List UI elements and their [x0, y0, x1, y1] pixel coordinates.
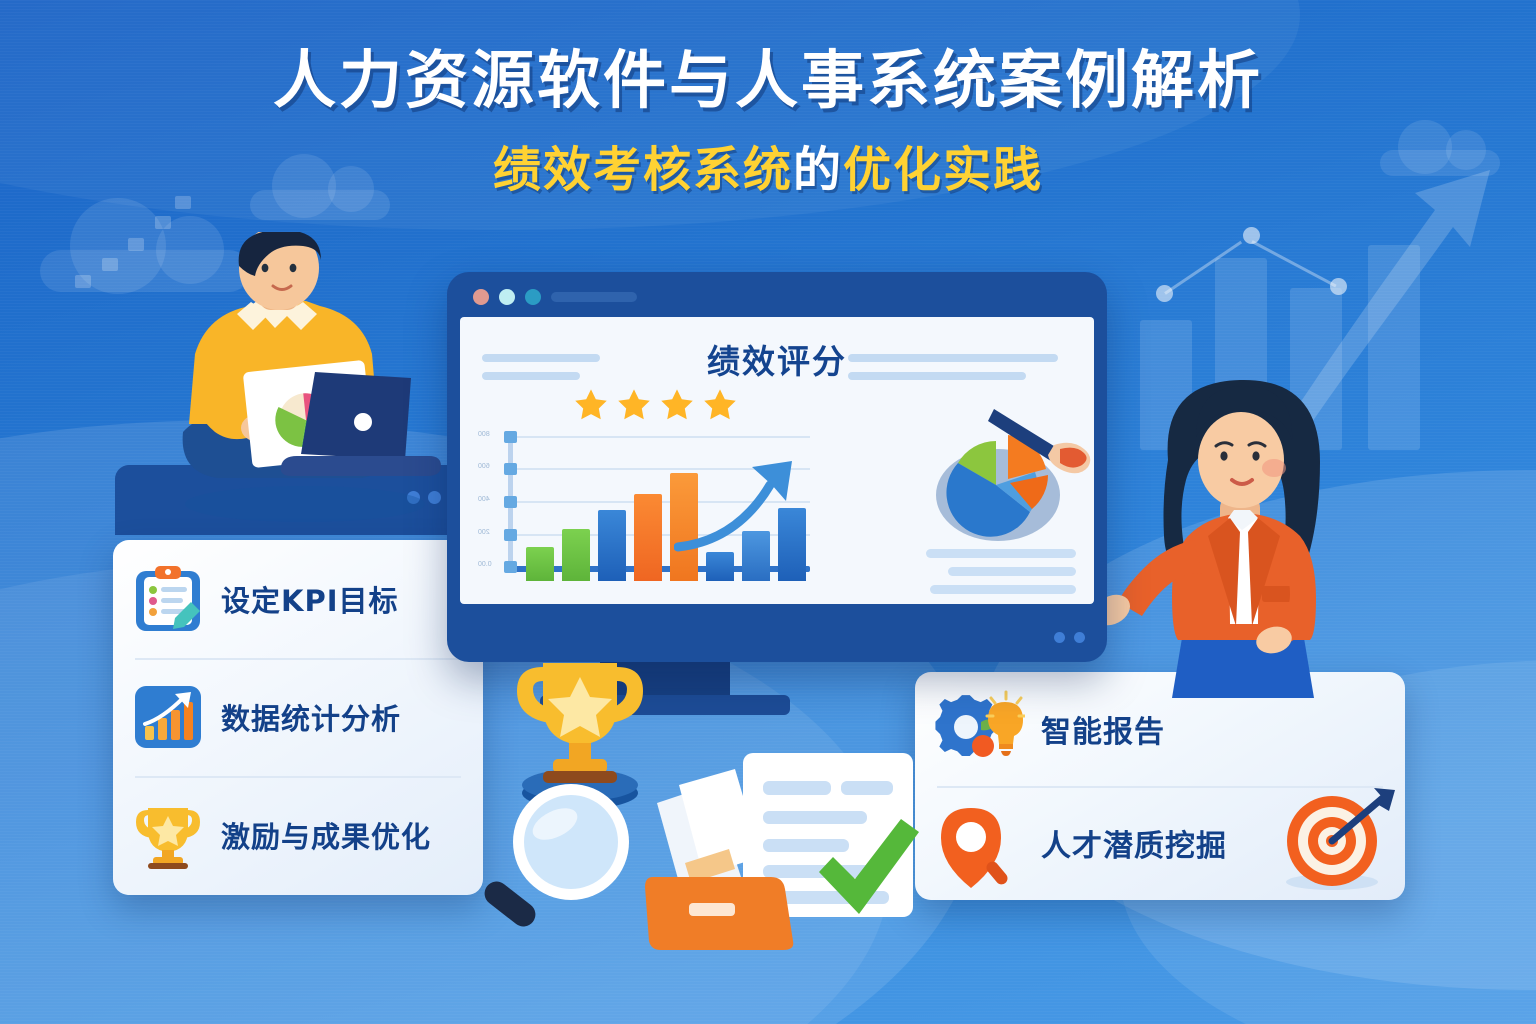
y-tick-label: 800	[478, 431, 490, 438]
bar-chart-growth-icon	[131, 680, 205, 754]
trophy-icon	[131, 798, 205, 872]
star-icon	[702, 387, 738, 423]
magnifying-glass-icon	[475, 780, 650, 945]
teal-dot-icon[interactable]	[525, 289, 541, 305]
star-rating	[573, 387, 753, 423]
list-item-label: 智能报告	[1041, 707, 1165, 751]
cyan-dot-icon[interactable]	[499, 289, 515, 305]
subtitle-part2: 优化实践	[843, 142, 1043, 198]
window-titlebar	[447, 272, 1107, 320]
monitor-screen: 绩效评分 800 600	[460, 317, 1094, 604]
salmon-dot-icon[interactable]	[473, 289, 489, 305]
performance-bar-chart: 800 600 400 200 0.00	[484, 435, 814, 587]
y-tick-label: 200	[478, 529, 490, 536]
list-item[interactable]: 设定KPI目标	[113, 540, 483, 658]
documents-with-checkmark	[645, 745, 935, 950]
star-icon	[659, 387, 695, 423]
subtitle-part1: 绩效考核系统	[493, 142, 793, 198]
left-feature-card: 设定KPI目标 数据统计分析	[113, 540, 483, 895]
list-item[interactable]: 激励与成果优化	[113, 776, 483, 894]
man-with-laptop-illustration	[155, 232, 455, 522]
star-icon	[573, 387, 609, 423]
y-tick-label: 400	[478, 496, 490, 503]
list-item-label: 人才潜质挖掘	[1041, 821, 1227, 865]
page-subtitle: 绩效考核系统的优化实践	[0, 130, 1536, 200]
poster-canvas: 人力资源软件与人事系统案例解析 绩效考核系统的优化实践	[0, 0, 1536, 1024]
page-title: 人力资源软件与人事系统案例解析	[0, 48, 1536, 114]
y-tick-label: 0.00	[478, 561, 492, 568]
magnifier-pin-icon	[933, 804, 1025, 882]
trend-arrow-icon	[674, 455, 824, 567]
subtitle-highlight: 的	[793, 142, 843, 198]
monitor-window: 绩效评分 800 600	[447, 272, 1107, 662]
woman-presenter-illustration	[1096, 368, 1396, 698]
bar	[526, 547, 554, 581]
target-dartboard-icon	[1277, 786, 1397, 896]
gear-lightbulb-icon	[933, 690, 1025, 768]
pointer-stick-icon	[988, 405, 1094, 475]
bar	[634, 494, 662, 581]
bar	[598, 510, 626, 581]
list-item[interactable]: 数据统计分析	[113, 658, 483, 776]
y-tick-label: 600	[478, 463, 490, 470]
title-block: 人力资源软件与人事系统案例解析 绩效考核系统的优化实践	[0, 48, 1536, 200]
address-bar[interactable]	[551, 292, 637, 302]
screen-title: 绩效评分	[460, 335, 1094, 383]
monitor-indicator-dots	[1045, 630, 1085, 648]
right-feature-card: 智能报告 人才潜质挖掘	[915, 672, 1405, 900]
list-item-label: 设定KPI目标	[221, 578, 399, 620]
clipboard-checklist-icon	[131, 562, 205, 636]
list-item-label: 数据统计分析	[221, 696, 401, 738]
list-item-label: 激励与成果优化	[221, 814, 431, 856]
bar	[562, 529, 590, 581]
star-icon	[616, 387, 652, 423]
